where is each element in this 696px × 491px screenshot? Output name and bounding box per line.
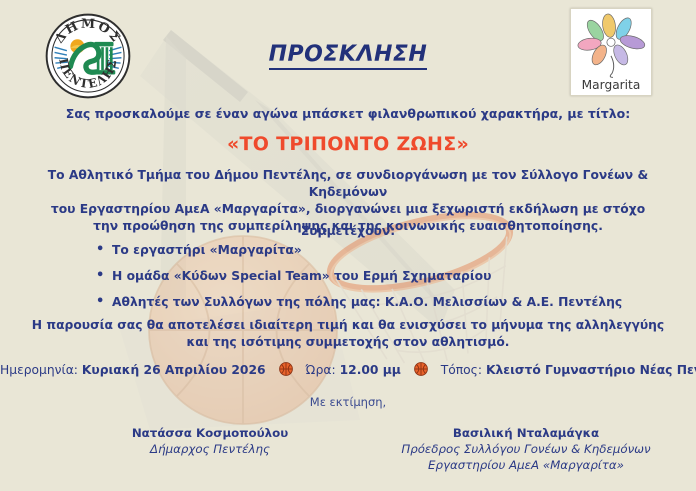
signature-right-role-2: Εργαστηρίου ΑμεΑ «Μαργαρίτα» [366,457,686,473]
signature-left: Νατάσσα Κοσμοπούλου Δήμαρχος Πεντέλης [60,425,360,457]
margarita-wordmark: Margarita [582,78,641,92]
time-value: 12.00 μμ [340,363,401,377]
signature-right-role-1: Πρόεδρος Συλλόγου Γονέων & Κηδεμόνων [366,441,686,457]
closing-paragraph-line-2: και της ισότιμης συμμετοχής στον αθλητισ… [30,334,666,351]
invite-line: Σας προσκαλούμε σε έναν αγώνα μπάσκετ φι… [0,106,696,121]
place-value: Κλειστό Γυμναστήριο Νέας Πεντέλης [486,363,696,377]
place-label: Τόπος: [441,363,482,377]
page-title-text: ΠΡΟΣΚΛΗΣΗ [269,42,428,70]
margarita-logo: Margarita [570,8,652,96]
event-title: «ΤΟ ΤΡΙΠΟΝΤΟ ΖΩΗΣ» [0,133,696,155]
daisy-flower-icon [577,13,646,67]
signature-left-role-1: Δήμαρχος Πεντέλης [60,441,360,457]
list-item: Η ομάδα «Κύδων Special Team» του Ερμή Σχ… [96,269,622,284]
closing-paragraph: Η παρουσία σας θα αποτελέσει ιδιαίτερη τ… [30,317,666,351]
date-value: Κυριακή 26 Απριλίου 2026 [82,363,266,377]
date-label: Ημερομηνία: [0,363,78,377]
list-item: Αθλητές των Συλλόγων της πόλης μας: Κ.Α.… [96,295,622,310]
regards-line: Με εκτίμηση, [0,395,696,409]
event-details-line: Ημερομηνία: Κυριακή 26 Απριλίου 2026 Ώρα… [0,362,696,377]
intro-paragraph-line-1: Το Αθλητικό Τμήμα του Δήμου Πεντέλης, σε… [30,167,666,201]
signature-left-name: Νατάσσα Κοσμοπούλου [60,425,360,441]
closing-paragraph-line-1: Η παρουσία σας θα αποτελέσει ιδιαίτερη τ… [30,317,666,334]
time-label: Ώρα: [305,363,335,377]
list-item: Το εργαστήρι «Μαργαρίτα» [96,243,622,258]
invitation-poster: ΔΗΜΟΣ ΠΕΝΤΕΛΗΣ Margarita [0,0,696,491]
basketball-icon [414,362,428,376]
participants-heading: Συμμετέχουν: [0,224,696,238]
dimos-penteli-seal-logo: ΔΗΜΟΣ ΠΕΝΤΕΛΗΣ [44,12,132,100]
intro-paragraph-line-2: του Εργαστηρίου ΑμεΑ «Μαργαρίτα», διοργα… [30,201,666,218]
signature-right: Βασιλική Νταλαμάγκα Πρόεδρος Συλλόγου Γο… [366,425,686,473]
signature-right-name: Βασιλική Νταλαμάγκα [366,425,686,441]
participants-list: Το εργαστήρι «Μαργαρίτα» Η ομάδα «Κύδων … [96,243,622,321]
basketball-icon [279,362,293,376]
